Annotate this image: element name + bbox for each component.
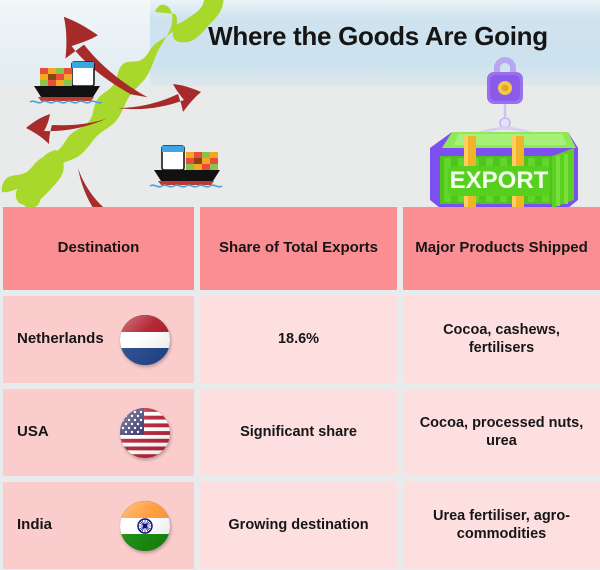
column-header-products: Major Products Shipped [403,207,600,290]
cell-share: Growing destination [200,482,397,569]
hero-artwork: EXPORT Where the Goods Are Going [0,0,600,210]
cell-products: Urea fertiliser, agro-commodities [403,482,600,569]
containers [40,68,72,86]
export-crate-icon: EXPORT [418,44,590,210]
containers [186,152,218,170]
padlock-icon [487,57,523,104]
cell-destination: USA [3,389,194,476]
table-row: Netherlands 18.6% Cocoa, cashews, fertil… [0,296,600,383]
cargo-ship-icon [148,142,228,190]
cell-products: Cocoa, processed nuts, urea [403,389,600,476]
cell-products: Cocoa, cashews, fertilisers [403,296,600,383]
export-crate-label: EXPORT [450,167,549,194]
netherlands-flag-icon [120,315,170,365]
destination-label: USA [17,423,120,441]
cell-destination: Netherlands [3,296,194,383]
destination-label: Netherlands [17,330,120,348]
page-title: Where the Goods Are Going [176,22,580,51]
column-header-share: Share of Total Exports [200,207,397,290]
table-header-row: Destination Share of Total Exports Major… [0,207,600,290]
cell-destination: India [3,482,194,569]
exports-table: Destination Share of Total Exports Major… [0,207,600,570]
table-row: India [0,482,600,569]
cell-share: 18.6% [200,296,397,383]
table-row: USA [0,389,600,476]
infographic-root: EXPORT Where the Goods Are Going Destina… [0,0,600,570]
usa-flag-icon [120,408,170,458]
cell-share: Significant share [200,389,397,476]
cargo-ship-icon [28,58,108,106]
india-flag-icon [120,501,170,551]
column-header-destination: Destination [3,207,194,290]
destination-label: India [17,516,120,534]
